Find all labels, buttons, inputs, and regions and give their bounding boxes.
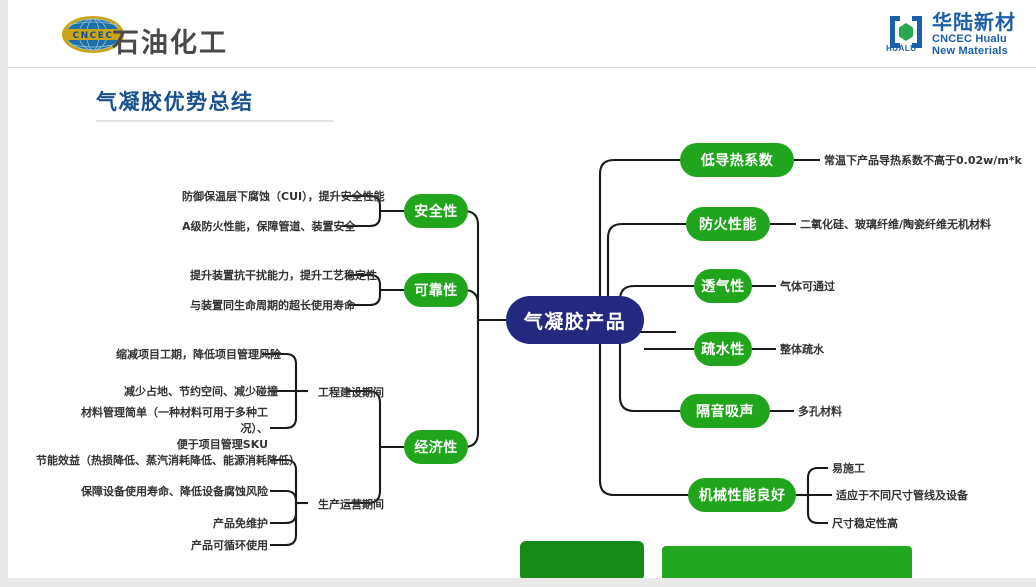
mindmap-node-fireproof[interactable]: 防火性能: [686, 207, 770, 241]
leaf-safety-1: 防御保温层下腐蚀（CUI），提升安全性能: [182, 189, 340, 204]
leaf-reliability-2: 与装置同生命周期的超长使用寿命: [190, 298, 346, 313]
leaf-operation-2: 保障设备使用寿命、降低设备腐蚀风险: [76, 484, 268, 499]
leaf-mechanical-3: 尺寸稳定性高: [832, 516, 898, 531]
leaf-safety-2: A级防火性能，保障管道、装置安全: [182, 219, 340, 234]
mindmap-node-hydrophobic[interactable]: 疏水性: [694, 332, 752, 366]
mindmap-node-mechanical[interactable]: 机械性能良好: [688, 478, 796, 512]
mindmap-node-low-conductivity[interactable]: 低导热系数: [680, 143, 794, 177]
leaf-construction-3: 材料管理简单（一种材料可用于多种工况）、 便于项目管理SKU: [68, 405, 268, 453]
leaf-operation-4: 产品可循环使用: [156, 538, 268, 553]
leaf-mechanical-1: 易施工: [832, 461, 865, 476]
leaf-construction-1: 缩减项目工期，降低项目管理风险: [116, 347, 260, 362]
decorative-bar: [662, 546, 912, 578]
mindmap-node-reliability[interactable]: 可靠性: [404, 273, 468, 307]
leaf-breathable-1: 气体可通过: [780, 279, 835, 294]
group-label-construction: 工程建设期间: [318, 384, 384, 400]
mindmap: 气凝胶产品 安全性 可靠性 经济性 防御保温层下腐蚀（CUI），提升安全性能 A…: [8, 0, 1036, 578]
leaf-soundproof-1: 多孔材料: [798, 404, 842, 419]
slide-canvas: CNCEC 石油化工 HUALU 华陆新材 CNCEC Hualu New Ma…: [8, 0, 1036, 578]
leaf-reliability-1: 提升装置抗干扰能力，提升工艺稳定性: [190, 268, 346, 283]
leaf-mechanical-2: 适应于不同尺寸管线及设备: [836, 488, 968, 503]
leaf-operation-3: 产品免维护: [168, 516, 268, 531]
mindmap-node-safety[interactable]: 安全性: [404, 194, 468, 228]
decorative-block: [520, 541, 644, 578]
mindmap-node-soundproof[interactable]: 隔音吸声: [680, 394, 770, 428]
mindmap-node-breathable[interactable]: 透气性: [694, 269, 752, 303]
leaf-fireproof-1: 二氧化硅、玻璃纤维/陶瓷纤维无机材料: [800, 217, 991, 232]
mindmap-node-economy[interactable]: 经济性: [404, 430, 468, 464]
leaf-hydrophobic-1: 整体疏水: [780, 342, 824, 357]
group-label-operation: 生产运营期间: [318, 496, 384, 512]
leaf-low-conductivity-1: 常温下产品导热系数不高于0.02w/m*k: [824, 153, 1022, 168]
leaf-construction-2: 减少占地、节约空间、减少碰撞: [124, 384, 268, 399]
leaf-operation-1: 节能效益（热损降低、蒸汽消耗降低、能源消耗降低）: [36, 453, 268, 468]
mindmap-center-node[interactable]: 气凝胶产品: [506, 296, 644, 344]
